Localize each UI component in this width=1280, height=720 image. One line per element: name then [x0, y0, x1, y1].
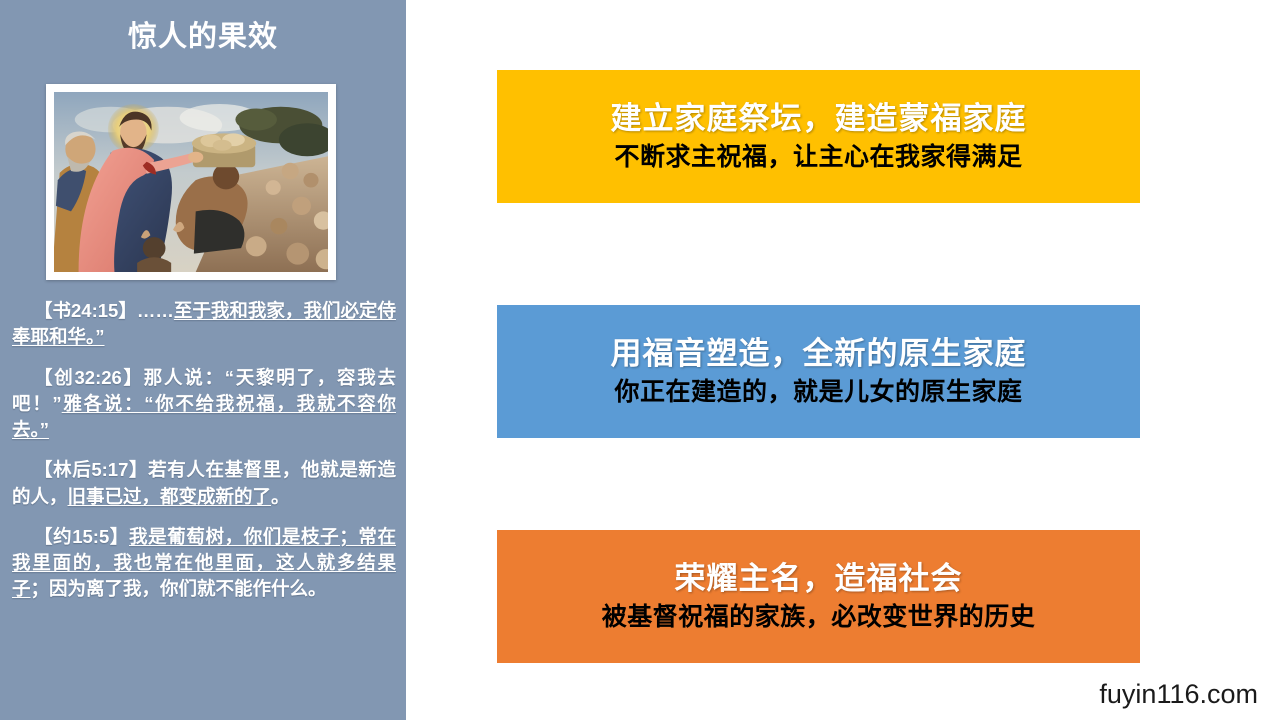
jesus-multiplying-loaves-painting [54, 92, 328, 272]
verse-text-underlined: 旧事已过，都变成新的了 [68, 486, 272, 507]
page-title: 惊人的果效 [0, 22, 406, 54]
content-bar-heading: 用福音塑造，全新的原生家庭 [611, 336, 1027, 372]
verse-item: 【约15:5】我是葡萄树，你们是枝子；常在我里面的，我也常在他里面，这人就多结果… [12, 524, 396, 603]
site-watermark: fuyin116.com [1099, 679, 1258, 710]
verse-list: 【书24:15】……至于我和我家，我们必定侍奉耶和华。” 【创32:26】那人说… [0, 298, 406, 603]
content-bar-subheading: 不断求主祝福，让主心在我家得满足 [614, 142, 1022, 172]
verse-item: 【林后5:17】若有人在基督里，他就是新造的人，旧事已过，都变成新的了。 [12, 457, 396, 510]
verse-text-tail: 。 [271, 486, 290, 507]
verse-reference: 【创32:26】 [34, 367, 144, 388]
verse-reference: 【林后5:17】 [34, 459, 148, 480]
verse-reference: 【书24:15】 [34, 300, 137, 321]
content-bar-subheading: 你正在建造的，就是儿女的原生家庭 [614, 377, 1022, 407]
content-bar-heading: 建立家庭祭坛，建造蒙福家庭 [611, 101, 1027, 137]
verse-text-plain: …… [137, 300, 174, 321]
verse-reference: 【约15:5】 [34, 526, 129, 547]
picture-frame [46, 84, 336, 280]
content-bar-family-altar: 建立家庭祭坛，建造蒙福家庭 不断求主祝福，让主心在我家得满足 [497, 70, 1140, 203]
painting-artwork [54, 92, 328, 272]
content-bar-glorify-society: 荣耀主名，造福社会 被基督祝福的家族，必改变世界的历史 [497, 530, 1140, 663]
content-bar-gospel-family: 用福音塑造，全新的原生家庭 你正在建造的，就是儿女的原生家庭 [497, 305, 1140, 438]
sidebar-panel: 惊人的果效 [0, 0, 406, 720]
verse-text-tail: ；因为离了我，你们就不能作什么。 [31, 578, 327, 599]
verse-item: 【创32:26】那人说：“天黎明了，容我去吧！”雅各说：“你不给我祝福，我就不容… [12, 365, 396, 444]
verse-item: 【书24:15】……至于我和我家，我们必定侍奉耶和华。” [12, 298, 396, 351]
content-bar-heading: 荣耀主名，造福社会 [675, 561, 963, 597]
verse-text-underlined: 雅各说：“你不给我祝福，我就不容你去。” [12, 393, 396, 440]
content-bar-subheading: 被基督祝福的家族，必改变世界的历史 [602, 602, 1036, 632]
